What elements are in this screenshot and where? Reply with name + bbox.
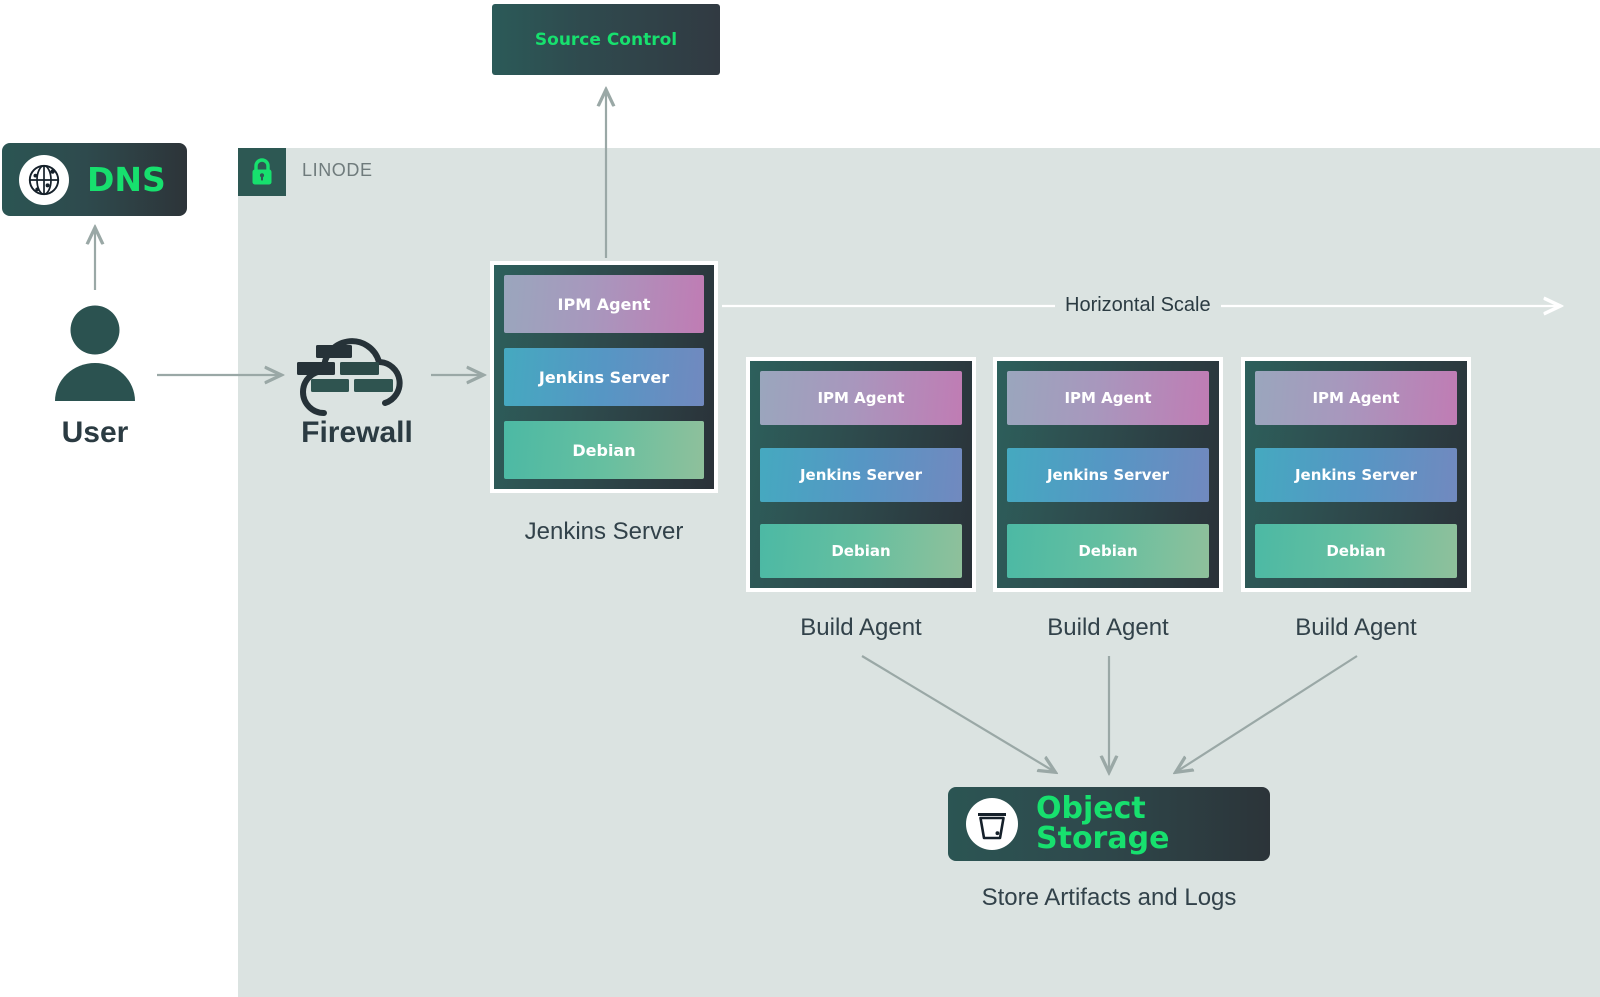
layer-debian: Debian (504, 421, 704, 479)
horizontal-scale-label: Horizontal Scale (1055, 294, 1221, 317)
layer-debian: Debian (760, 524, 962, 578)
globe-icon (19, 155, 69, 205)
user-icon (53, 305, 137, 401)
layer-jenkins-server: Jenkins Server (504, 348, 704, 406)
diagram-canvas: LINODE Horizontal Scale Source Control (0, 0, 1600, 997)
firewall-cloud-icon (293, 337, 421, 419)
layer-debian: Debian (1007, 524, 1209, 578)
source-control-node[interactable]: Source Control (492, 4, 720, 75)
build-agent-caption: Build Agent (1241, 614, 1471, 642)
layer-ipm-agent: IPM Agent (1255, 371, 1457, 425)
dns-node[interactable]: DNS (2, 143, 187, 216)
lock-icon (238, 148, 286, 196)
layer-debian: Debian (1255, 524, 1457, 578)
layer-jenkins-server: Jenkins Server (1255, 448, 1457, 502)
jenkins-server-caption: Jenkins Server (490, 518, 718, 546)
build-agent-node[interactable]: IPM Agent Jenkins Server Debian (1241, 357, 1471, 592)
layer-ipm-agent: IPM Agent (504, 275, 704, 333)
build-agent-node[interactable]: IPM Agent Jenkins Server Debian (746, 357, 976, 592)
bucket-icon (966, 798, 1018, 850)
object-storage-caption: Store Artifacts and Logs (948, 884, 1270, 912)
layer-jenkins-server: Jenkins Server (760, 448, 962, 502)
build-agent-caption: Build Agent (746, 614, 976, 642)
layer-jenkins-server: Jenkins Server (1007, 448, 1209, 502)
dns-label: DNS (87, 163, 166, 196)
firewall-label: Firewall (257, 416, 457, 450)
build-agent-caption: Build Agent (993, 614, 1223, 642)
layer-ipm-agent: IPM Agent (1007, 371, 1209, 425)
source-control-label: Source Control (535, 30, 677, 50)
jenkins-server-node[interactable]: IPM Agent Jenkins Server Debian (490, 261, 718, 493)
layer-ipm-agent: IPM Agent (760, 371, 962, 425)
object-storage-node[interactable]: Object Storage (948, 787, 1270, 861)
build-agent-node[interactable]: IPM Agent Jenkins Server Debian (993, 357, 1223, 592)
linode-region-label: LINODE (302, 160, 373, 181)
user-label: User (0, 416, 190, 450)
object-storage-label: Object Storage (1036, 794, 1270, 854)
